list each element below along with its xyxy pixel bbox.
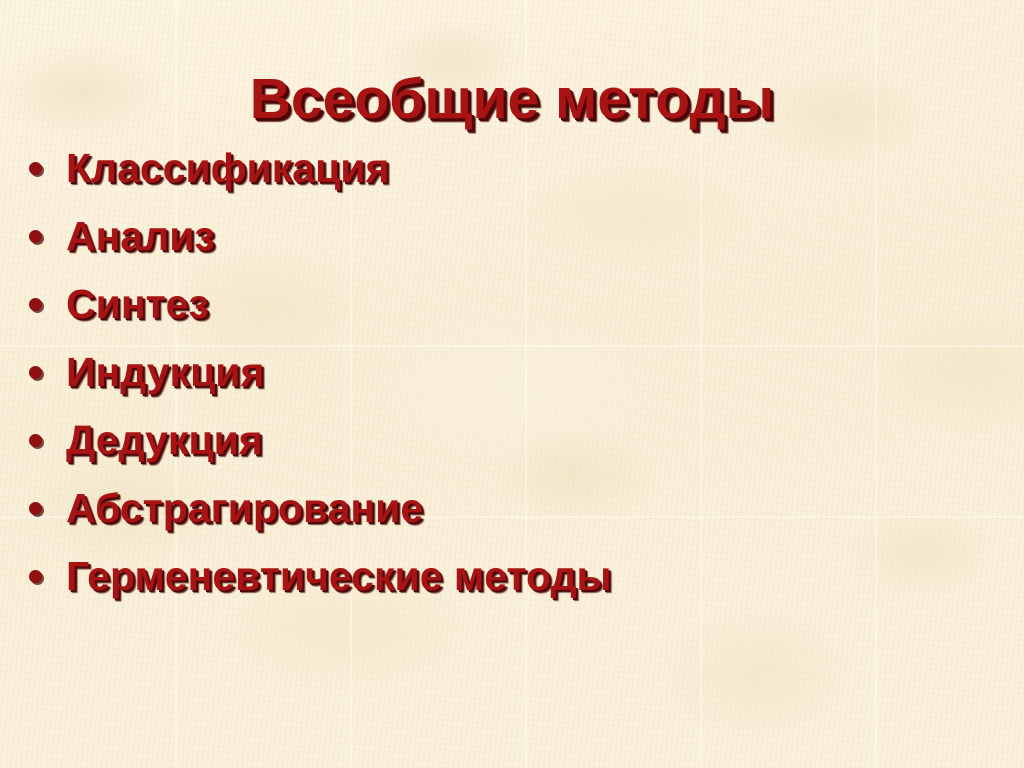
presentation-slide: Всеобщие методы Классификация Анализ Син… [0,0,1024,768]
list-item: Дедукция [18,406,1004,474]
list-item: Синтез [18,270,1004,338]
bullet-dot-icon [29,366,42,379]
bullet-dot-icon [29,502,42,515]
bullet-list: Классификация Анализ Синтез Индукция Дед… [18,134,1004,610]
list-item-label: Абстрагирование [66,488,423,529]
list-item: Абстрагирование [18,474,1004,542]
list-item-label: Анализ [66,216,215,257]
bullet-dot-icon [29,434,42,447]
list-item: Герменевтические методы [18,542,1004,610]
bullet-dot-icon [29,230,42,243]
list-item-label: Синтез [66,284,209,325]
list-item-label: Индукция [66,352,264,393]
list-item: Анализ [18,202,1004,270]
list-item: Индукция [18,338,1004,406]
bullet-dot-icon [29,162,42,175]
list-item-label: Классификация [66,148,389,189]
list-item-label: Герменевтические методы [66,556,612,597]
bullet-dot-icon [29,570,42,583]
bullet-dot-icon [29,298,42,311]
list-item-label: Дедукция [66,420,263,461]
slide-title: Всеобщие методы [0,66,1024,132]
list-item: Классификация [18,134,1004,202]
